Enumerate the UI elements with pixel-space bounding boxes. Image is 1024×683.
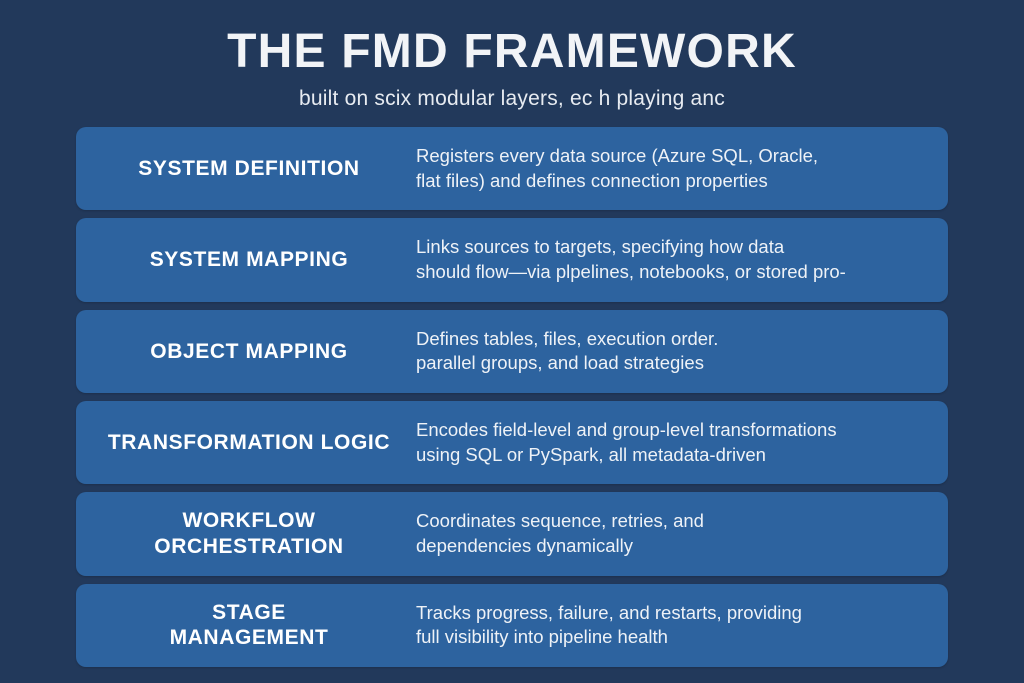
layer-description: Encodes field-level and group-level tran…: [416, 418, 948, 467]
layer-row: OBJECT MAPPING Defines tables, files, ex…: [76, 310, 948, 393]
page-subtitle: built on scix modular layers, ec h playi…: [0, 86, 1024, 111]
layer-row: STAGE MANAGEMENT Tracks progress, failur…: [76, 584, 948, 667]
layer-label: TRANSFORMATION LOGIC: [76, 430, 416, 456]
layer-label: SYSTEM DEFINITION: [76, 156, 416, 182]
layer-list: SYSTEM DEFINITION Registers every data s…: [76, 127, 948, 667]
layer-description: Coordinates sequence, retries, and depen…: [416, 509, 948, 558]
layer-label: OBJECT MAPPING: [76, 339, 416, 365]
layer-description: Defines tables, files, execution order. …: [416, 327, 948, 376]
layer-row: WORKFLOW ORCHESTRATION Coordinates seque…: [76, 492, 948, 575]
framework-poster: THE FMD FRAMEWORK built on scix modular …: [0, 0, 1024, 683]
layer-description: Tracks progress, failure, and restarts, …: [416, 601, 948, 650]
poster-header: THE FMD FRAMEWORK built on scix modular …: [0, 0, 1024, 111]
layer-label: STAGE MANAGEMENT: [76, 600, 416, 651]
layer-label: WORKFLOW ORCHESTRATION: [76, 508, 416, 559]
layer-description: Registers every data source (Azure SQL, …: [416, 144, 948, 193]
layer-row: TRANSFORMATION LOGIC Encodes field-level…: [76, 401, 948, 484]
page-title: THE FMD FRAMEWORK: [0, 26, 1024, 78]
layer-row: SYSTEM MAPPING Links sources to targets,…: [76, 218, 948, 301]
layer-label: SYSTEM MAPPING: [76, 247, 416, 273]
layer-row: SYSTEM DEFINITION Registers every data s…: [76, 127, 948, 210]
layer-description: Links sources to targets, specifying how…: [416, 235, 948, 284]
